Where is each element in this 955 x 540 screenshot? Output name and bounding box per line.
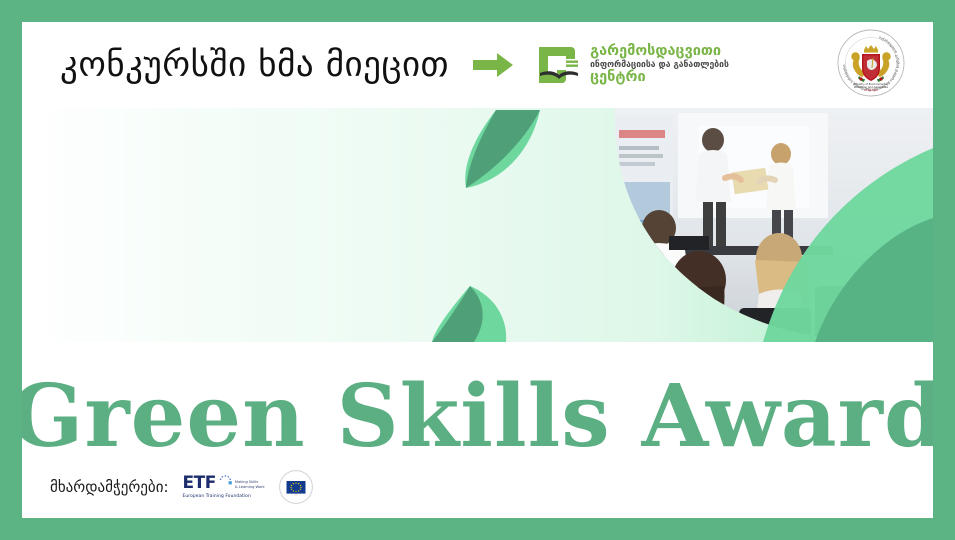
supporters-row: მხარდამჭერები: ETF Making Skills & Lea: [50, 470, 313, 504]
etf-logo: ETF Making Skills & Learning Work Eur: [183, 475, 265, 499]
eiec-logo-line1: გარემოსდაცვითი: [590, 44, 729, 59]
etf-wordmark: ETF: [183, 475, 216, 492]
eiec-logo: გარემოსდაცვითი ინფორმაციისა და განათლები…: [535, 41, 729, 89]
open-book-logo-icon: [535, 41, 583, 89]
etf-stars-icon: [219, 475, 232, 486]
etf-tagline-line2: & Learning Work: [235, 485, 265, 490]
arrow-right-icon: [471, 50, 515, 80]
eiec-logo-line2: ინფორმაციისა და განათლების: [590, 61, 729, 70]
poster-root: კონკურსში ხმა მიეცით გარემოსდაცვითი ინფო…: [0, 0, 955, 540]
etf-subtitle: European Training Foundation: [183, 495, 251, 499]
supporters-label: მხარდამჭერები:: [50, 478, 169, 496]
page-title: კონკურსში ხმა მიეცით: [60, 48, 449, 83]
georgia-ministry-emblem-icon: საქართველოს გარემოს დაცვისა და სოფლის მე…: [837, 29, 905, 97]
eiec-logo-line3: ცენტრი: [590, 70, 729, 85]
hero-band: [22, 108, 933, 342]
main-title: Green Skills Award: [22, 374, 933, 460]
eiec-logo-text: გარემოსდაცვითი ინფორმაციისა და განათლები…: [590, 44, 729, 85]
european-union-logo-icon: [279, 470, 313, 504]
decorative-leaves: [22, 108, 933, 342]
svg-text:of Georgia: of Georgia: [864, 88, 878, 92]
header-band: კონკურსში ხმა მიეცით გარემოსდაცვითი ინფო…: [22, 22, 933, 108]
poster-inner: კონკურსში ხმა მიეცით გარემოსდაცვითი ინფო…: [22, 22, 933, 518]
